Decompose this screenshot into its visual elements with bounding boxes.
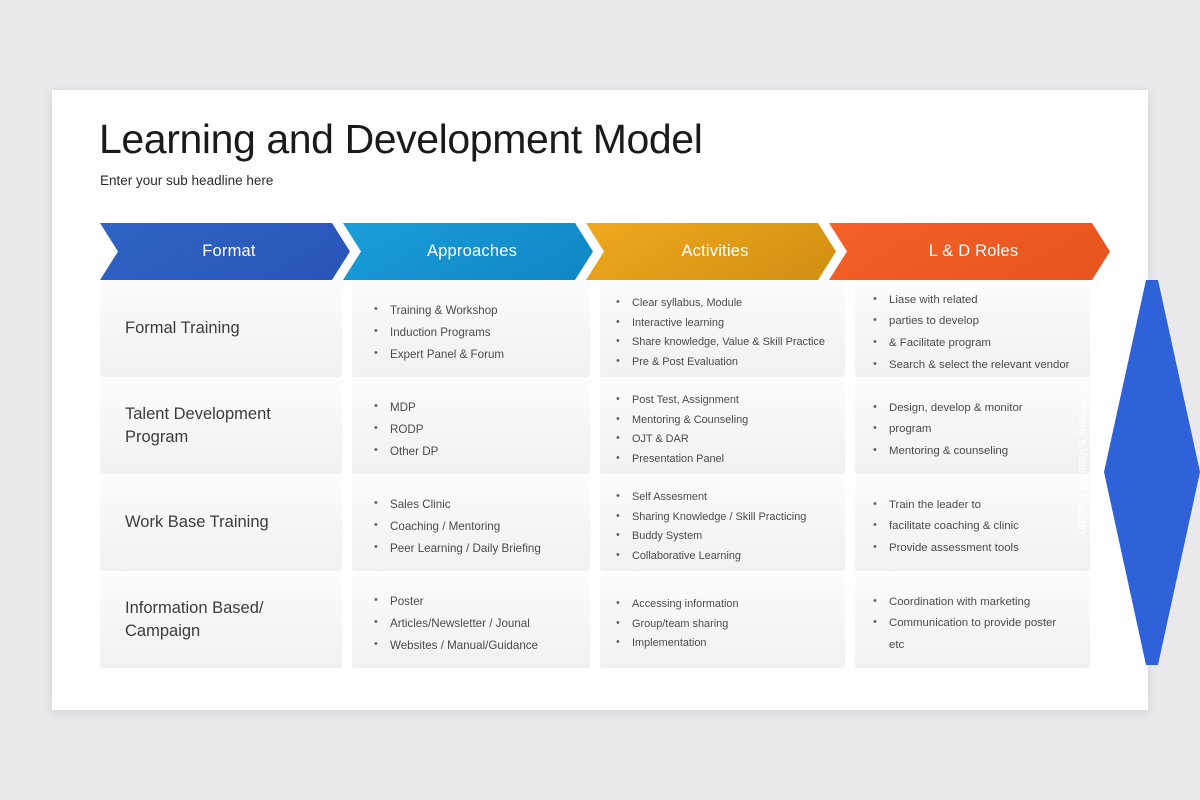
list-item: Collaborative Learning <box>600 551 845 562</box>
format-label: Formal Training <box>125 280 335 377</box>
activities-list: Accessing informationGroup/team sharingI… <box>600 580 845 668</box>
page-title: Learning and Development Model <box>99 116 702 163</box>
list-item: Peer Learning / Daily Briefing <box>352 543 590 555</box>
list-item: Expert Panel & Forum <box>352 349 590 361</box>
list-item: & Facilitate program <box>855 338 1090 349</box>
column-header-activities[interactable]: Activities <box>586 223 836 280</box>
cell-roles-row1[interactable]: Liase with relatedparties to develop& Fa… <box>855 280 1090 377</box>
list-item: Post Test, Assignment <box>600 395 845 406</box>
list-item: Buddy System <box>600 531 845 542</box>
learning-development-diagram: FormatApproachesActivitiesL & D Roles Fo… <box>100 223 1110 668</box>
page-subtitle: Enter your sub headline here <box>100 173 273 188</box>
column-gap <box>845 280 855 377</box>
list-item: Presentation Panel <box>600 454 845 465</box>
list-item: Coordination with marketing <box>855 597 1090 608</box>
column-header-label: Activities <box>681 242 748 261</box>
list-item: Training & Workshop <box>352 305 590 317</box>
cell-activities-row3[interactable]: Self AssesmentSharing Knowledge / Skill … <box>600 474 845 571</box>
slide-card: Learning and Development Model Enter you… <box>52 90 1148 710</box>
column-header-label: Format <box>202 242 255 261</box>
cell-format-row2[interactable]: Talent Development Program <box>100 377 342 474</box>
format-label: Information Based/ Campaign <box>125 571 335 668</box>
column-gap <box>590 377 600 474</box>
list-item: Accessing information <box>600 599 845 610</box>
column-header-roles[interactable]: L & D Roles <box>829 223 1110 280</box>
cell-approaches-row3[interactable]: Sales ClinicCoaching / MentoringPeer Lea… <box>352 474 590 571</box>
column-gap <box>342 474 352 571</box>
column-gap <box>845 571 855 668</box>
format-label: Talent Development Program <box>125 377 335 474</box>
column-gap <box>590 571 600 668</box>
activities-list: Post Test, AssignmentMentoring & Counsel… <box>600 386 845 474</box>
list-item: Articles/Newsletter / Jounal <box>352 618 590 630</box>
list-item: Group/team sharing <box>600 619 845 630</box>
cell-approaches-row1[interactable]: Training & WorkshopInduction ProgramsExp… <box>352 280 590 377</box>
roles-list: Liase with relatedparties to develop& Fa… <box>855 289 1090 377</box>
vision-mission-arrow <box>1096 280 1162 665</box>
list-item: Induction Programs <box>352 327 590 339</box>
matrix-table: Formal TrainingTraining & WorkshopInduct… <box>100 280 1110 668</box>
table-row: Work Base TrainingSales ClinicCoaching /… <box>100 474 1110 571</box>
list-item: program <box>855 424 1090 435</box>
approaches-list: Training & WorkshopInduction ProgramsExp… <box>352 289 590 377</box>
list-item: Sales Clinic <box>352 499 590 511</box>
list-item: Self Assesment <box>600 492 845 503</box>
list-item: OJT & DAR <box>600 434 845 445</box>
list-item: Websites / Manual/Guidance <box>352 640 590 652</box>
list-item: Liase with related <box>855 295 1090 306</box>
list-item: Sharing Knowledge / Skill Practicing <box>600 512 845 523</box>
roles-list: Train the leader tofacilitate coaching &… <box>855 483 1090 571</box>
list-item: Interactive learning <box>600 318 845 329</box>
column-header-format[interactable]: Format <box>100 223 350 280</box>
cell-roles-row3[interactable]: Train the leader tofacilitate coaching &… <box>855 474 1090 571</box>
table-row: Information Based/ CampaignPosterArticle… <box>100 571 1110 668</box>
approaches-list: PosterArticles/Newsletter / JounalWebsit… <box>352 580 590 668</box>
cell-format-row3[interactable]: Work Base Training <box>100 474 342 571</box>
list-item: Pre & Post Evaluation <box>600 357 845 368</box>
list-item: Design, develop & monitor <box>855 403 1090 414</box>
list-item: Poster <box>352 596 590 608</box>
cell-roles-row4[interactable]: Coordination with marketingCommunication… <box>855 571 1090 668</box>
list-item: Communication to provide poster <box>855 618 1090 629</box>
cell-format-row4[interactable]: Information Based/ Campaign <box>100 571 342 668</box>
column-header-approaches[interactable]: Approaches <box>343 223 593 280</box>
column-gap <box>590 474 600 571</box>
list-item: Search & select the relevant vendor <box>855 360 1090 371</box>
list-item: MDP <box>352 402 590 414</box>
cell-format-row1[interactable]: Formal Training <box>100 280 342 377</box>
table-row: Talent Development ProgramMDPRODPOther D… <box>100 377 1110 474</box>
activities-list: Self AssesmentSharing Knowledge / Skill … <box>600 483 845 571</box>
activities-list: Clear syllabus, ModuleInteractive learni… <box>600 289 845 377</box>
column-gap <box>342 280 352 377</box>
cell-activities-row2[interactable]: Post Test, AssignmentMentoring & Counsel… <box>600 377 845 474</box>
column-gap <box>342 571 352 668</box>
list-item: facilitate coaching & clinic <box>855 521 1090 532</box>
column-gap <box>590 280 600 377</box>
column-gap <box>845 474 855 571</box>
roles-list: Coordination with marketingCommunication… <box>855 580 1090 668</box>
list-item: etc <box>855 640 1090 651</box>
list-item: Clear syllabus, Module <box>600 298 845 309</box>
table-row: Formal TrainingTraining & WorkshopInduct… <box>100 280 1110 377</box>
column-header-bar: FormatApproachesActivitiesL & D Roles <box>100 223 1110 280</box>
column-gap <box>342 377 352 474</box>
list-item: Coaching / Mentoring <box>352 521 590 533</box>
cell-roles-row2[interactable]: Design, develop & monitorprogramMentorin… <box>855 377 1090 474</box>
list-item: Implementation <box>600 638 845 649</box>
cell-activities-row4[interactable]: Accessing informationGroup/team sharingI… <box>600 571 845 668</box>
column-gap <box>845 377 855 474</box>
approaches-list: MDPRODPOther DP <box>352 386 590 474</box>
cell-activities-row1[interactable]: Clear syllabus, ModuleInteractive learni… <box>600 280 845 377</box>
list-item: RODP <box>352 424 590 436</box>
list-item: Mentoring & Counseling <box>600 415 845 426</box>
list-item: Other DP <box>352 446 590 458</box>
cell-approaches-row4[interactable]: PosterArticles/Newsletter / JounalWebsit… <box>352 571 590 668</box>
column-header-label: L & D Roles <box>929 242 1019 261</box>
cell-approaches-row2[interactable]: MDPRODPOther DP <box>352 377 590 474</box>
list-item: Mentoring & counseling <box>855 446 1090 457</box>
list-item: Provide assessment tools <box>855 543 1090 554</box>
list-item: parties to develop <box>855 316 1090 327</box>
column-header-label: Approaches <box>427 242 517 261</box>
approaches-list: Sales ClinicCoaching / MentoringPeer Lea… <box>352 483 590 571</box>
list-item: Share knowledge, Value & Skill Practice <box>600 337 845 348</box>
format-label: Work Base Training <box>125 474 335 571</box>
list-item: Train the leader to <box>855 500 1090 511</box>
roles-list: Design, develop & monitorprogramMentorin… <box>855 386 1090 474</box>
